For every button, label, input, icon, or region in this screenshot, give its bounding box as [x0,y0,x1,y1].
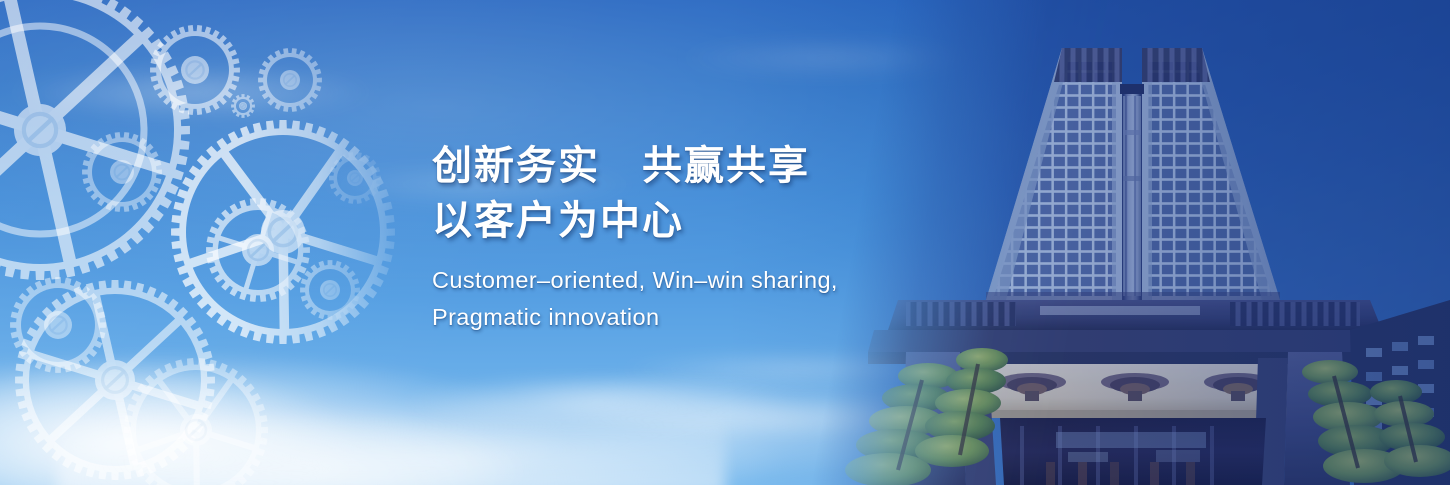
banner-copy: 创新务实 共赢共享 以客户为中心 Customer–oriented, Win–… [432,140,992,336]
subcopy-line-2: Pragmatic innovation [432,299,992,336]
headline-line-1: 创新务实 共赢共享 [432,140,992,193]
subcopy-line-1: Customer–oriented, Win–win sharing, [432,262,992,299]
hero-banner: 创新务实 共赢共享 以客户为中心 Customer–oriented, Win–… [0,0,1450,485]
headline-line-2: 以客户为中心 [432,195,992,248]
